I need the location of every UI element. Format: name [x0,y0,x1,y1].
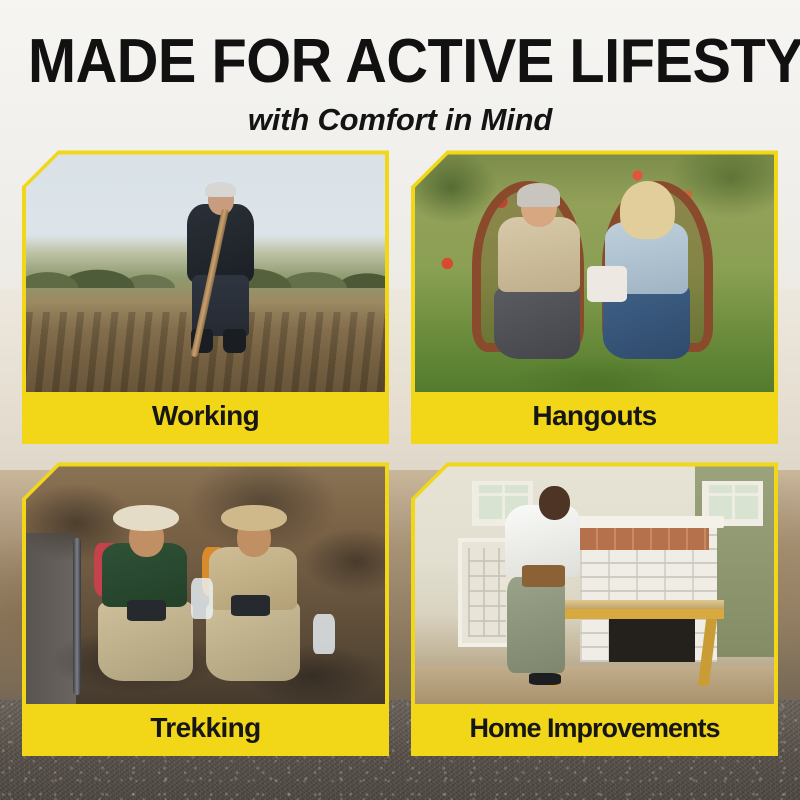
mantel [573,516,724,528]
card-label-home-improvements: Home Improvements [469,713,719,744]
legs [507,577,565,673]
floor [415,666,774,704]
coffee-mug [587,266,626,302]
head [539,486,571,521]
camera [231,595,270,616]
card-photo-window [415,154,774,392]
photo-working [26,154,385,392]
photo-hangouts [415,154,774,392]
hair [205,182,236,197]
photo-trekking [26,466,385,704]
poster-canvas: MADE FOR ACTIVE LIFESTYLE with Comfort i… [0,0,800,800]
card-caption-bar: Trekking [26,704,385,752]
shoe [529,673,561,685]
header: MADE FOR ACTIVE LIFESTYLE with Comfort i… [0,0,800,138]
boot [223,329,245,353]
legs [494,287,580,359]
water-bottle [191,578,213,618]
water-bottle [313,614,335,654]
category-card-working[interactable]: Working [22,150,389,444]
figure-hiker-one [98,505,195,681]
torso [498,217,581,292]
figure-digging-man [177,185,263,356]
card-label-working: Working [152,400,259,432]
card-label-hangouts: Hangouts [532,400,656,432]
card-photo-window [415,466,774,704]
card-label-trekking: Trekking [150,712,260,744]
category-grid: Working [0,138,800,778]
page-title: MADE FOR ACTIVE LIFESTYLE [28,30,772,94]
category-card-hangouts[interactable]: Hangouts [411,150,778,444]
category-card-home-improvements[interactable]: Home Improvements [411,462,778,756]
bucket-hat [113,505,179,531]
camera [127,600,166,621]
card-photo-window [26,154,385,392]
figure-worker [494,486,587,686]
card-caption-bar: Working [26,392,385,440]
figure-senior-man [494,188,584,359]
tool-belt [522,565,565,587]
photo-home-improvements [415,466,774,704]
card-caption-bar: Hangouts [415,392,774,440]
card-photo-window [26,466,385,704]
hair [517,183,560,207]
bucket-hat [221,505,287,531]
category-card-trekking[interactable]: Trekking [22,462,389,756]
page-subtitle: with Comfort in Mind [0,102,800,138]
card-caption-bar: Home Improvements [415,704,774,752]
hair [620,181,676,239]
trekking-pole [73,538,81,695]
figure-hiker-two [206,505,303,681]
brick-course [580,528,709,549]
